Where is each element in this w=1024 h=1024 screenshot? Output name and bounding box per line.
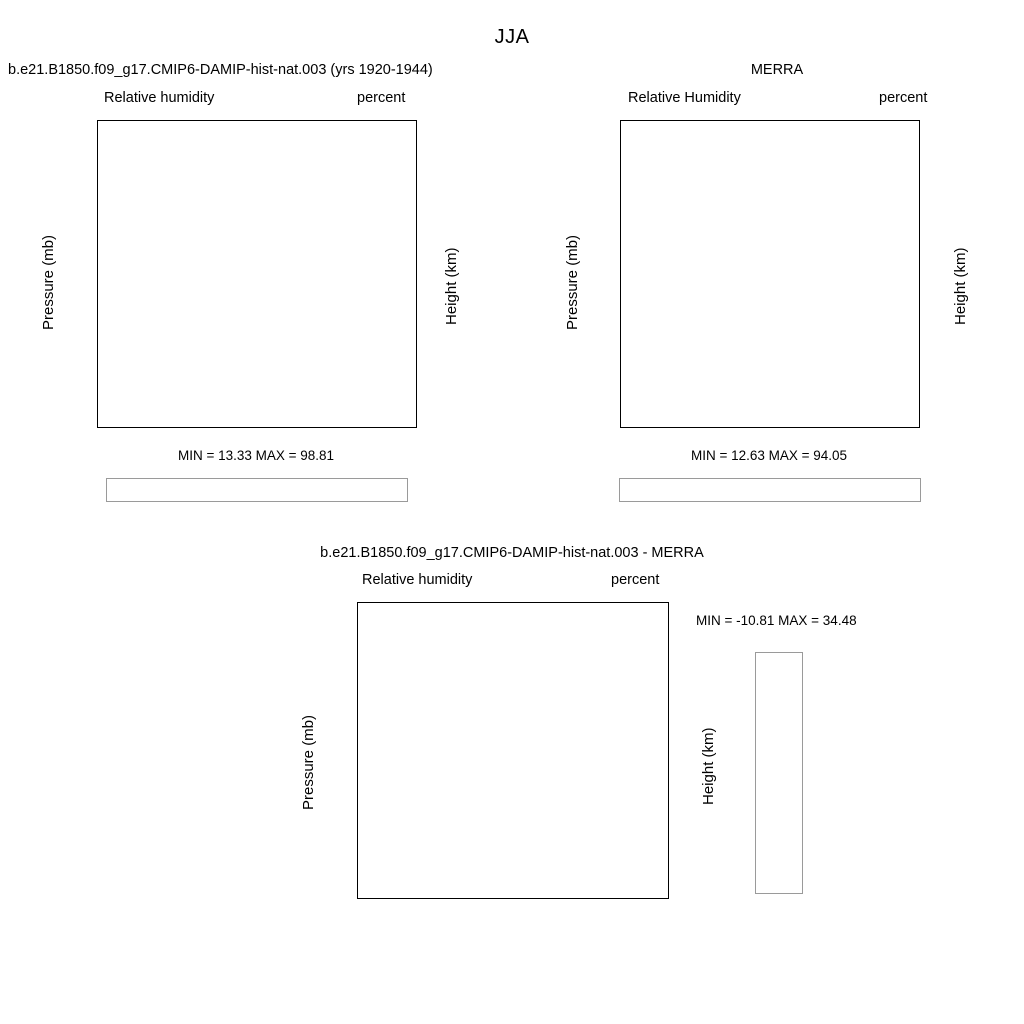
diff-variable-label: Relative humidity [362,572,472,588]
model-colorbar-labels [106,506,406,524]
model-nodata-mask [343,383,416,427]
model-y-axis-title: Pressure (mb) [40,235,57,330]
obs-contour-canvas [621,121,919,427]
diff-nodata-mask [598,865,668,898]
diff-contour-plot[interactable] [357,602,669,899]
diff-panel-title-text: b.e21.B1850.f09_g17.CMIP6-DAMIP-hist-nat… [320,545,704,561]
obs-panel-title: MERRA [0,62,1024,78]
obs-variable-label: Relative Humidity [628,90,741,106]
obs-units-label: percent [879,90,927,106]
model-contour-plot[interactable] [97,120,417,428]
diff-units-label: percent [611,572,659,588]
diff-colorbar[interactable] [755,652,803,894]
obs-contour-plot[interactable] [620,120,920,428]
model-y2-axis-title: Height (km) [443,247,460,325]
season-title: JJA [0,26,1024,49]
diff-panel-title: b.e21.B1850.f09_g17.CMIP6-DAMIP-hist-nat… [0,545,1024,561]
diff-y2-axis-title: Height (km) [700,727,717,805]
diff-y-axis-title: Pressure (mb) [300,715,317,810]
model-minmax-label: MIN = 13.33 MAX = 98.81 [97,448,415,463]
diff-minmax-label: MIN = -10.81 MAX = 34.48 [696,613,857,628]
diff-contour-canvas [358,603,668,898]
obs-y-axis-title: Pressure (mb) [564,235,581,330]
model-variable-label: Relative humidity [104,90,214,106]
obs-panel-title-text: MERRA [751,62,803,78]
diff-colorbar-labels [808,652,848,892]
model-colorbar[interactable] [106,478,408,502]
model-contour-canvas [98,121,416,427]
obs-nodata-mask [904,356,919,427]
model-units-label: percent [357,90,405,106]
obs-y2-axis-title: Height (km) [952,247,969,325]
obs-colorbar[interactable] [619,478,921,502]
obs-minmax-label: MIN = 12.63 MAX = 94.05 [620,448,918,463]
obs-colorbar-labels [619,506,919,524]
